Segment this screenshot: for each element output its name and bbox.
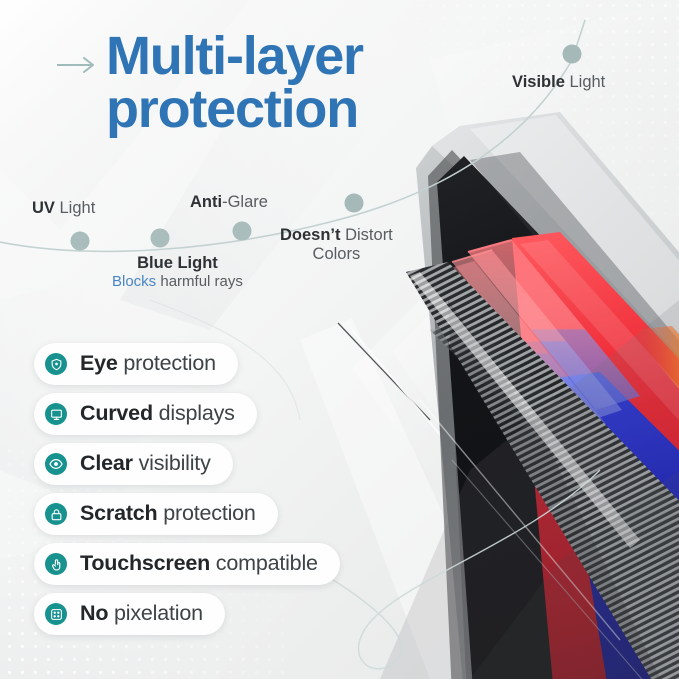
shield-icon	[45, 353, 67, 375]
feature-normal-3: protection	[157, 501, 255, 525]
callout-uv-light-normal: Light	[55, 199, 95, 217]
feature-normal-1: displays	[153, 401, 235, 425]
dot-marker-anti	[233, 222, 252, 241]
promo-stage: Multi-layer protection Visible Light UV …	[0, 0, 679, 679]
callout-blue-light-sub: Blocks harmful rays	[112, 273, 243, 292]
page-title: Multi-layer protection	[106, 30, 536, 136]
feature-pill-no-pixelation[interactable]: No pixelation	[34, 593, 225, 635]
callout-blue-light-accent: Blocks	[112, 273, 156, 290]
feature-list: Eye protection Curved displays Clear vis…	[34, 343, 340, 635]
callout-uv-light-bold: UV	[32, 199, 55, 217]
feature-pill-scratch-protection[interactable]: Scratch protection	[34, 493, 278, 535]
callout-doesnt-bold: Doesn’t	[280, 226, 341, 244]
feature-pill-eye-protection[interactable]: Eye protection	[34, 343, 238, 385]
dot-marker-uv	[71, 232, 90, 251]
feature-pill-clear-visibility[interactable]: Clear visibility	[34, 443, 233, 485]
callout-visible-light-bold: Visible	[512, 73, 565, 91]
lock-icon	[45, 503, 67, 525]
title-line-2: protection	[106, 83, 536, 136]
feature-normal-2: visibility	[133, 451, 211, 475]
feature-normal-5: pixelation	[108, 601, 203, 625]
feature-pill-label: No pixelation	[80, 603, 203, 625]
title-line-1: Multi-layer	[106, 30, 536, 83]
feature-pill-label: Eye protection	[80, 353, 216, 375]
feature-bold-2: Clear	[80, 451, 133, 475]
callout-doesnt-line2: Colors	[280, 245, 393, 264]
dot-marker-blue	[151, 229, 170, 248]
feature-pill-curved-displays[interactable]: Curved displays	[34, 393, 257, 435]
dot-marker-doesnt	[345, 194, 364, 213]
feature-pill-label: Scratch protection	[80, 503, 256, 525]
callout-anti-glare-bold: Anti	[190, 193, 222, 211]
feature-bold-0: Eye	[80, 351, 118, 375]
pixel-grid-icon	[45, 603, 67, 625]
monitor-icon	[45, 403, 67, 425]
touch-hand-icon	[45, 553, 67, 575]
feature-normal-4: compatible	[210, 551, 318, 575]
feature-pill-touchscreen-compatible[interactable]: Touchscreen compatible	[34, 543, 340, 585]
feature-bold-3: Scratch	[80, 501, 157, 525]
feature-bold-1: Curved	[80, 401, 153, 425]
callout-anti-glare: Anti-Glare	[190, 193, 268, 212]
callout-blue-light: Blue Light Blocks harmful rays	[112, 254, 243, 292]
callout-visible-light: Visible Light	[512, 73, 605, 92]
feature-normal-0: protection	[118, 351, 216, 375]
feature-pill-label: Curved displays	[80, 403, 235, 425]
callout-visible-light-normal: Light	[565, 73, 605, 91]
callout-uv-light: UV Light	[32, 199, 95, 218]
dot-marker-visible	[563, 45, 582, 64]
feature-bold-5: No	[80, 601, 108, 625]
feature-pill-label: Clear visibility	[80, 453, 211, 475]
feature-bold-4: Touchscreen	[80, 551, 210, 575]
arrow-right-icon	[56, 55, 98, 75]
eye-icon	[45, 453, 67, 475]
callout-blue-light-sub-normal: harmful rays	[156, 273, 243, 290]
feature-pill-label: Touchscreen compatible	[80, 553, 318, 575]
callout-blue-light-bold: Blue Light	[112, 254, 243, 273]
callout-doesnt-normal: Distort	[341, 226, 393, 244]
callout-doesnt-distort-colors: Doesn’t Distort Colors	[280, 226, 393, 264]
callout-anti-glare-normal: -Glare	[222, 193, 268, 211]
